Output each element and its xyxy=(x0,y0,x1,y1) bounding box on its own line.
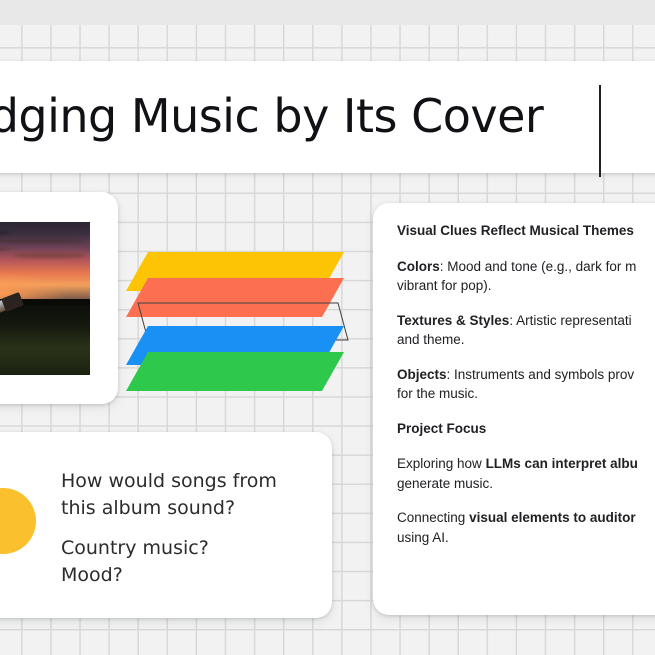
focus1-pre: Exploring how xyxy=(397,456,486,471)
focus2-pre: Connecting xyxy=(397,510,469,525)
focus1-line2: generate music. xyxy=(397,476,493,491)
info-label-textures: Textures & Styles xyxy=(397,313,509,328)
album-cover-card[interactable] xyxy=(0,192,118,404)
title-text-box[interactable]: Judging Music by Its Cover xyxy=(0,61,655,173)
info-label-colors: Colors xyxy=(397,259,440,274)
info-objects-line1: : Instruments and symbols prov xyxy=(447,367,635,382)
layered-planes-graphic[interactable] xyxy=(126,238,362,398)
info-objects-line2: for the music. xyxy=(397,386,478,401)
info-block-textures: Textures & Styles: Artistic representati… xyxy=(397,311,655,350)
album-cover-image[interactable] xyxy=(0,222,90,375)
focus2-post: to auditor xyxy=(570,510,636,525)
focus2-bold: visual elements xyxy=(469,510,570,525)
question-line-2: this album sound? xyxy=(61,495,311,522)
question-text: How would songs from this album sound? C… xyxy=(61,468,311,589)
info-heading: Visual Clues Reflect Musical Themes xyxy=(397,221,655,241)
page-title: Judging Music by Its Cover xyxy=(0,83,640,149)
info-block-colors: Colors: Mood and tone (e.g., dark for m … xyxy=(397,257,655,296)
info-textures-line2: and theme. xyxy=(397,332,465,347)
text-caret xyxy=(599,85,601,177)
info-focus-2: Connecting visual elements to auditor us… xyxy=(397,508,655,547)
coral-plane[interactable] xyxy=(126,278,344,317)
info-textures-line1: : Artistic representati xyxy=(509,313,631,328)
info-colors-line1: : Mood and tone (e.g., dark for m xyxy=(440,259,637,274)
info-focus-1: Exploring how LLMs can interpret albu ge… xyxy=(397,454,655,493)
focus2-line2: using AI. xyxy=(397,530,449,545)
info-colors-line2: vibrant for pop). xyxy=(397,278,492,293)
slide-canvas[interactable]: Judging Music by Its Cover xyxy=(0,0,655,655)
field-ground xyxy=(0,305,90,375)
toolbar-strip xyxy=(0,0,655,25)
question-line-4: Mood? xyxy=(61,562,311,589)
question-line-1: How would songs from xyxy=(61,468,311,495)
focus1-bold: LLMs can interpret albu xyxy=(486,456,638,471)
info-panel-text: Visual Clues Reflect Musical Themes Colo… xyxy=(397,221,655,562)
question-line-3: Country music? xyxy=(61,535,311,562)
info-subheading: Project Focus xyxy=(397,419,655,439)
info-label-objects: Objects xyxy=(397,367,447,382)
green-plane[interactable] xyxy=(126,352,344,391)
sunset-sky xyxy=(0,222,90,305)
info-block-objects: Objects: Instruments and symbols prov fo… xyxy=(397,365,655,404)
